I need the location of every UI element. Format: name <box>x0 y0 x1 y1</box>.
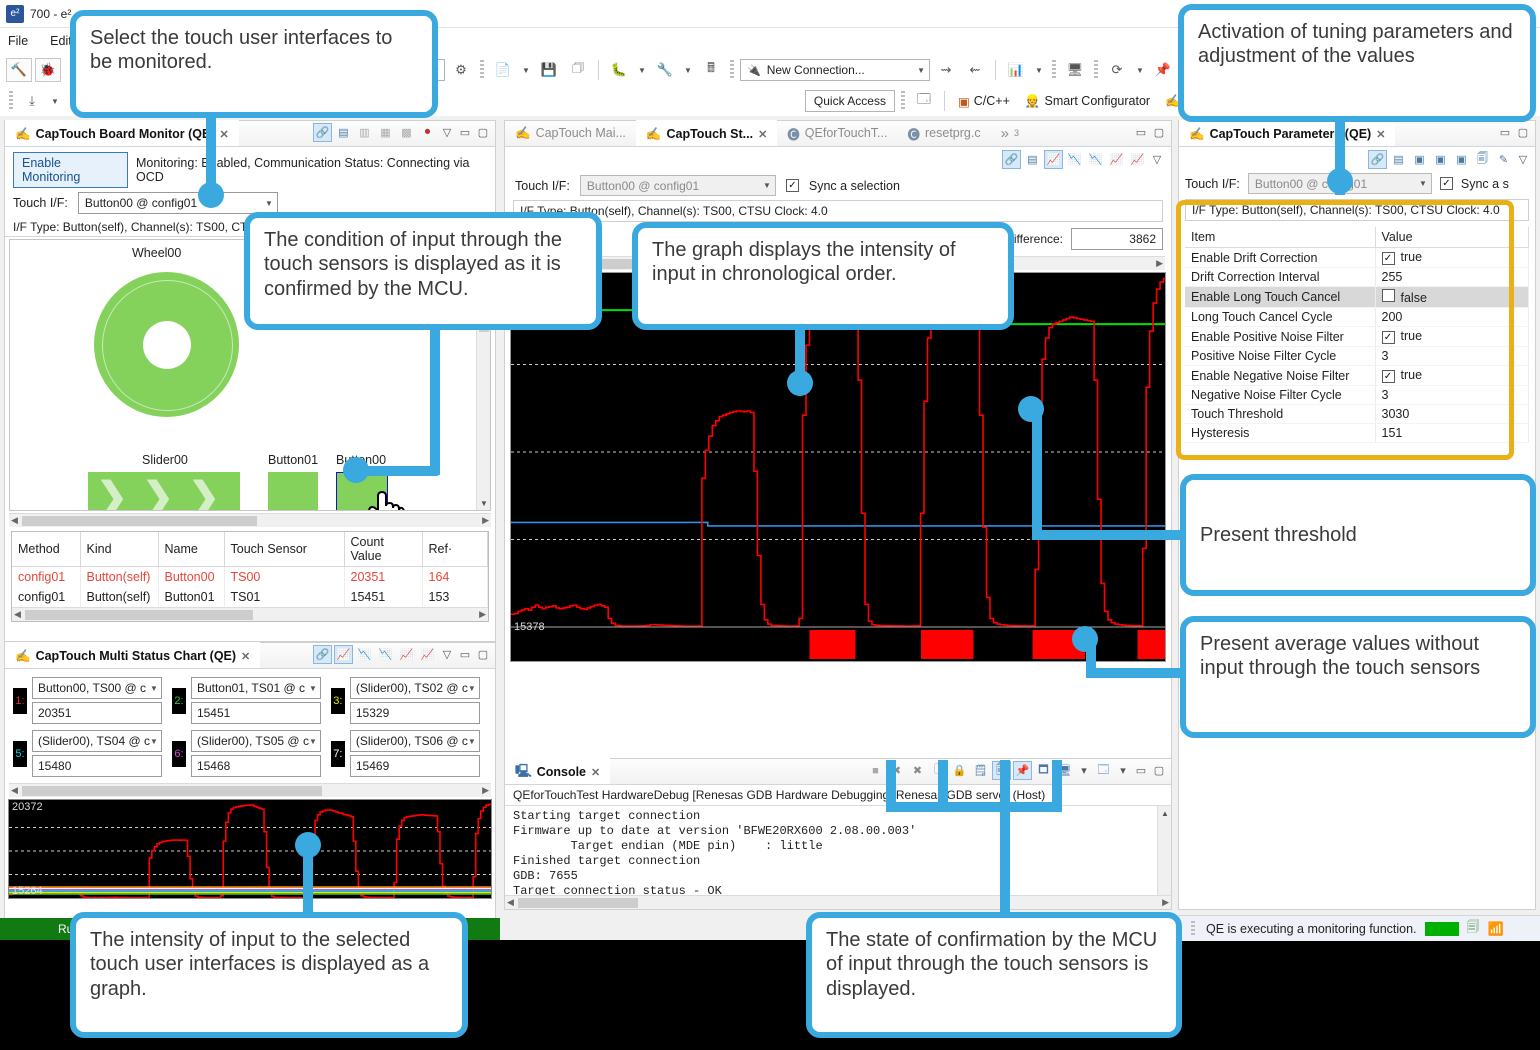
cell-method: config01 <box>12 567 80 588</box>
build-icon[interactable]: 🔧 <box>652 58 678 82</box>
callout-dot-c2 <box>343 457 369 483</box>
close-icon[interactable]: ✕ <box>220 128 229 141</box>
channel-select-3[interactable]: (Slider00), TS02 @ c ▼ <box>350 677 480 699</box>
scroll-right-icon[interactable]: ▶ <box>1162 897 1169 908</box>
col-item: Item <box>1185 227 1375 248</box>
qe-status-message: QE is executing a monitoring function. <box>1206 922 1417 936</box>
app-icon: e² <box>6 5 24 23</box>
callout-dot-c3 <box>787 370 813 396</box>
chart-view-icon[interactable]: 📈 <box>334 645 353 664</box>
params-tabbar: ✍ CapTouch Parameters (QE) ✕ ▭ ▢ <box>1179 121 1535 147</box>
minimize-icon[interactable]: ▭ <box>457 646 473 664</box>
params-iftype-text: I/F Type: Button(self), Channel(s): TS00… <box>1185 199 1529 221</box>
param-item: Enable Positive Noise Filter <box>1185 327 1375 347</box>
chevron-down-icon: ▼ <box>150 737 158 746</box>
board-monitor-tabbar: ✍ CapTouch Board Monitor (QE) ✕ 🔗 ▤ ▥ ▦ … <box>5 121 495 147</box>
chart-export-icon[interactable]: 📈 <box>1128 150 1147 169</box>
channel-select-6-value: (Slider00), TS05 @ c <box>197 734 309 748</box>
param-checkbox[interactable] <box>1382 289 1395 302</box>
chevron-down-icon: ▼ <box>265 199 273 208</box>
scroll-right-icon[interactable]: ▶ <box>482 515 489 526</box>
table-horizontal-scrollbar[interactable]: ◀ ▶ <box>12 607 488 621</box>
list-item[interactable]: 6: (Slider00), TS05 @ c ▼ 15468 <box>172 730 321 777</box>
connection-value: New Connection... <box>767 63 911 77</box>
chevron-down-icon: ▼ <box>1419 179 1427 188</box>
link-selection-icon[interactable]: 🔗 <box>313 123 332 142</box>
board-monitor-toolbar: 🔗 ▤ ▥ ▦ ▩ ⏺ ▽ ▭ ▢ <box>313 123 491 142</box>
col-ref: Ref· <box>422 532 488 567</box>
cell-kind: Button(self) <box>80 587 158 607</box>
channel-index-7: 7: <box>331 741 345 767</box>
close-icon[interactable]: ✕ <box>1376 128 1385 141</box>
captouch-status-chart[interactable]: 20372 15378 <box>510 272 1166 662</box>
tab-qefortouchtest-label: QEforTouchT... <box>805 126 888 140</box>
tab-captouch-parameters[interactable]: ✍ CapTouch Parameters (QE) ✕ <box>1179 120 1395 146</box>
table-row[interactable]: config01 Button(self) Button00 TS00 2035… <box>12 567 488 588</box>
param-value[interactable]: false <box>1375 287 1529 308</box>
step-filter-icon[interactable]: ⇝ <box>933 58 959 82</box>
callout-intensity-graph: The intensity of input to the selected t… <box>70 912 468 1038</box>
params-toolbar: 🔗 ▤ ▣ ▣ ▣ 🗐 ✎ ▽ <box>1179 147 1535 171</box>
view-menu-icon[interactable]: ▽ <box>439 646 455 664</box>
perspective-sc-label: Smart Configurator <box>1044 94 1150 108</box>
callout-graph-intensity: The graph displays the intensity of inpu… <box>632 222 1014 330</box>
cell-method: config01 <box>12 587 80 607</box>
lock-scroll-icon[interactable]: 🔒 <box>950 761 969 780</box>
slider00-widget[interactable]: ❯ ❯ ❯ <box>88 472 240 511</box>
channel-select-7[interactable]: (Slider00), TS06 @ c ▼ <box>350 730 480 752</box>
hand-cursor-icon <box>362 490 406 511</box>
table-row[interactable]: Drift Correction Interval255 <box>1185 268 1529 287</box>
touch-sensor-table[interactable]: Method Kind Name Touch Sensor Count Valu… <box>11 531 489 622</box>
channel-value-3: 15329 <box>350 702 480 724</box>
callout-dot-c5 <box>1018 396 1044 422</box>
cpp-icon: ▣ <box>958 94 970 109</box>
connection-combo[interactable]: 🔌 New Connection... ▼ <box>740 59 930 81</box>
quick-access-button[interactable]: Quick Access <box>805 90 895 112</box>
cell-sensor: TS01 <box>224 587 344 607</box>
params-interface-row: Touch I/F: Button00 @ config01 ▼ ✓ Sync … <box>1179 171 1535 199</box>
channel-select-3-value: (Slider00), TS02 @ c <box>356 681 468 695</box>
list-item[interactable]: 5: (Slider00), TS04 @ c ▼ 15480 <box>13 730 162 777</box>
scroll-right-icon[interactable]: ▶ <box>1156 258 1163 269</box>
write-parameters-icon[interactable]: ▣ <box>1410 150 1429 169</box>
channel-select-7-value: (Slider00), TS06 @ c <box>356 734 468 748</box>
param-value[interactable]: 255 <box>1375 268 1529 287</box>
channel-value-6: 15468 <box>191 755 321 777</box>
param-checkbox[interactable]: ✓ <box>1382 252 1395 265</box>
param-item: Touch Threshold <box>1185 405 1375 424</box>
callout-input-condition: The condition of input through the touch… <box>244 212 602 330</box>
list-item[interactable]: 3: (Slider00), TS02 @ c ▼ 15329 <box>331 677 480 724</box>
view-menu-icon[interactable]: ▽ <box>1149 151 1165 169</box>
status-chart-svg <box>511 273 1166 661</box>
qe-hand-icon: ✍ <box>646 127 662 142</box>
start-logging-icon[interactable]: ▥ <box>355 123 374 142</box>
chevron-down-icon: ▼ <box>468 684 476 693</box>
chevron-down-icon: ▼ <box>309 737 317 746</box>
chart-export-icon[interactable]: 📈 <box>418 645 437 664</box>
pin-console-icon[interactable]: 📌 <box>1013 761 1032 780</box>
callout-average-values: Present average values without input thr… <box>1180 616 1536 738</box>
param-item: Enable Negative Noise Filter <box>1185 366 1375 386</box>
debug-icon[interactable]: 🐛 <box>606 58 632 82</box>
perspective-smart-configurator[interactable]: 👷 Smart Configurator <box>1019 94 1156 109</box>
tab-board-monitor[interactable]: ✍ CapTouch Board Monitor (QE) ✕ <box>5 120 239 146</box>
connector-c5-v <box>1032 410 1042 540</box>
tab-console-label: Console <box>537 765 586 779</box>
channel-select-5-value: (Slider00), TS04 @ c <box>38 734 150 748</box>
close-icon[interactable]: ✕ <box>591 766 600 779</box>
minimize-icon[interactable]: ▭ <box>1133 123 1149 141</box>
tab-overflow[interactable]: » 3 <box>991 120 1029 146</box>
qe-hand-icon: ✍ <box>15 127 31 142</box>
touch-if-label: Touch I/F: <box>515 179 570 193</box>
callout-dot-c1 <box>198 182 224 208</box>
channel-index-2: 2: <box>172 688 186 714</box>
build-dropdown-icon[interactable]: ▼ <box>681 58 695 82</box>
param-checkbox[interactable]: ✓ <box>1382 370 1395 383</box>
cell-name: Button00 <box>158 567 224 588</box>
window-title: 700 - e² <box>30 7 71 21</box>
col-name: Name <box>158 532 224 567</box>
chart-view-icon[interactable]: 📈 <box>1044 150 1063 169</box>
new-file-dropdown-icon[interactable]: ▼ <box>519 58 533 82</box>
status-chart-iftype-text: I/F Type: Button(self), Channel(s): TS00… <box>513 200 1163 222</box>
editor-window-controls: ▭ ▢ <box>1133 123 1167 141</box>
minimize-icon[interactable]: ▭ <box>1133 762 1149 780</box>
open-console-icon[interactable]: 🗔 <box>1094 761 1113 780</box>
monitoring-status-text: Monitoring: Enabled, Communication Statu… <box>136 156 487 184</box>
chart-icon[interactable]: ▩ <box>397 123 416 142</box>
cell-count: 20351 <box>344 567 422 588</box>
callout-dot-c4 <box>1327 168 1353 194</box>
console-view: 🖳 Console ✕ ■ ✖ ✖ 🗋 🔒 🗒 🗐 📌 🗖 🖥 ▾ 🗔 ▾ ▭ … <box>504 758 1172 910</box>
minimize-icon[interactable]: ▭ <box>1497 123 1513 141</box>
channel-value-5: 15480 <box>32 755 162 777</box>
menu-item-edit[interactable]: Edit <box>50 34 72 48</box>
link-selection-icon[interactable]: 🔗 <box>1002 150 1021 169</box>
maximize-icon[interactable]: ▢ <box>1151 762 1167 780</box>
scroll-left-icon[interactable]: ◀ <box>507 897 514 908</box>
callout-present-threshold: Present threshold <box>1180 474 1536 596</box>
cell-kind: Button(self) <box>80 567 158 588</box>
view-menu-icon[interactable]: ▽ <box>1515 151 1531 169</box>
stack-icon[interactable]: 📊 <box>1003 58 1029 82</box>
tab-multi-status-chart[interactable]: ✍ CapTouch Multi Status Chart (QE) ✕ <box>5 642 260 668</box>
console-toolbar: ■ ✖ ✖ 🗋 🔒 🗒 🗐 📌 🗖 🖥 ▾ 🗔 ▾ ▭ ▢ <box>866 761 1167 780</box>
tab-overflow-count: 3 <box>1014 128 1019 138</box>
chevron-down-icon[interactable]: ▾ <box>1076 762 1092 780</box>
enable-monitoring-button[interactable]: Enable Monitoring <box>13 152 128 188</box>
stop-logging-icon[interactable]: ▦ <box>376 123 395 142</box>
cursor-dropdown-icon[interactable]: ▼ <box>1133 58 1147 82</box>
button01-widget[interactable] <box>268 472 318 511</box>
param-value[interactable]: ✓true <box>1375 248 1529 268</box>
channel-value-7: 15469 <box>350 755 480 777</box>
minimize-icon[interactable]: ▭ <box>457 124 473 142</box>
copy-status-icon[interactable]: 🗐 <box>1467 918 1480 940</box>
step-filter2-icon[interactable]: ⇜ <box>962 58 988 82</box>
close-icon[interactable]: ✕ <box>241 650 250 663</box>
cell-ref: 164 <box>422 567 488 588</box>
tab-captouch-status[interactable]: ✍ CapTouch St... ✕ <box>636 120 777 146</box>
param-value[interactable]: 200 <box>1375 308 1529 327</box>
mini-chart-svg <box>9 800 491 898</box>
params-header-row: Item Value <box>1185 227 1529 248</box>
channel-value-2: 15451 <box>191 702 321 724</box>
callout-state-confirmation: The state of confirmation by the MCU of … <box>806 912 1182 1038</box>
cell-count: 15451 <box>344 587 422 607</box>
callout-tuning-parameters: Activation of tuning parameters and adju… <box>1178 4 1536 122</box>
channel-index-6: 6: <box>172 741 186 767</box>
board-view-icon[interactable]: ▤ <box>334 123 353 142</box>
table-header-row: Method Kind Name Touch Sensor Count Valu… <box>12 532 488 567</box>
channel-select-1[interactable]: Button00, TS00 @ c ▼ <box>32 677 162 699</box>
scroll-left-icon[interactable]: ◀ <box>11 515 18 526</box>
view-menu-icon[interactable]: ▽ <box>439 124 455 142</box>
smart-configurator-icon: 👷 <box>1025 94 1041 109</box>
import-icon[interactable]: ⤓ <box>19 89 45 113</box>
channel-select-6[interactable]: (Slider00), TS05 @ c ▼ <box>191 730 321 752</box>
col-touch-sensor: Touch Sensor <box>224 532 344 567</box>
tab-resetprg[interactable]: 🅒 resetprg.c <box>897 120 990 146</box>
channel-index-5: 5: <box>13 741 27 767</box>
chevron-down-icon: ▼ <box>468 737 476 746</box>
tab-captouch-main-label: CapTouch Mai... <box>536 126 626 140</box>
maximize-icon[interactable]: ▢ <box>475 124 491 142</box>
touch-if-label: Touch I/F: <box>13 196 68 210</box>
refresh-parameters-icon[interactable]: ▣ <box>1452 150 1471 169</box>
menu-item-file[interactable]: File <box>8 34 28 48</box>
board-view-icon[interactable]: ▤ <box>1023 150 1042 169</box>
touch-if-select[interactable]: Button00 @ config01 ▼ <box>78 192 278 214</box>
board-view-icon[interactable]: ▤ <box>1389 150 1408 169</box>
tab-captouch-status-label: CapTouch St... <box>666 127 753 141</box>
save-all-icon[interactable]: 🗇 <box>565 58 591 82</box>
tab-captouch-parameters-label: CapTouch Parameters (QE) <box>1210 127 1372 141</box>
table-row[interactable]: Enable Positive Noise Filter✓true <box>1185 327 1529 347</box>
tab-qefortouchtest[interactable]: 🅒 QEforTouchT... <box>777 120 897 146</box>
col-method: Method <box>12 532 80 567</box>
param-value[interactable]: ✓true <box>1375 327 1529 347</box>
touch-if-select-disabled[interactable]: Button00 @ config01 ▼ <box>580 175 776 196</box>
link-selection-icon[interactable]: 🔗 <box>313 645 332 664</box>
terminate-icon[interactable]: ■ <box>866 761 885 780</box>
wheel00-widget[interactable] <box>94 272 239 417</box>
list-item[interactable]: 7: (Slider00), TS06 @ c ▼ 15469 <box>331 730 480 777</box>
maximize-icon[interactable]: ▢ <box>1151 123 1167 141</box>
debug-dropdown-icon[interactable]: ▼ <box>635 58 649 82</box>
binary-icon[interactable]: 🖩 <box>698 58 724 82</box>
param-value[interactable]: ✓true <box>1375 366 1529 386</box>
scroll-left-icon[interactable]: ◀ <box>11 785 18 796</box>
record-icon[interactable]: ⏺ <box>418 123 437 142</box>
status-chart-toolbar: 🔗 ▤ 📈 📉 📉 📈 📈 ▽ <box>505 147 1171 169</box>
cell-ref: 153 <box>422 587 488 607</box>
scroll-right-icon[interactable]: ▶ <box>482 785 489 796</box>
chevron-down-icon: ▼ <box>309 684 317 693</box>
new-file-icon[interactable]: 📄 <box>490 58 516 82</box>
mini-chart-bottom-label: 15264 <box>12 885 43 897</box>
sync-selection-label: Sync a s <box>1461 177 1509 191</box>
table-row[interactable]: Enable Drift Correction✓true <box>1185 248 1529 268</box>
new-console-icon[interactable]: 🗖 <box>1034 761 1053 780</box>
list-item[interactable]: 2: Button01, TS01 @ c ▼ 15451 <box>172 677 321 724</box>
console-horizontal-scrollbar[interactable]: ◀ ▶ <box>505 895 1171 909</box>
table-row[interactable]: Enable Long Touch Cancelfalse <box>1185 287 1529 308</box>
ide-window: e² 700 - e² File Edit 🔨 🐞 eDebug ▼ ⚙ 📄 ▼… <box>0 0 1540 940</box>
param-checkbox[interactable]: ✓ <box>1382 331 1395 344</box>
touch-if-value: Button00 @ config01 <box>85 196 265 210</box>
qe-hand-icon: ✍ <box>15 649 31 664</box>
qe-status-bar: QE is executing a monitoring function. 🗐… <box>1178 915 1540 941</box>
param-item: Enable Drift Correction <box>1185 248 1375 268</box>
maximize-icon[interactable]: ▢ <box>1515 123 1531 141</box>
list-item[interactable]: 1: Button00, TS00 @ c ▼ 20351 <box>13 677 162 724</box>
chart-clear-icon[interactable]: 📉 <box>376 645 395 664</box>
table-row[interactable]: Positive Noise Filter Cycle3 <box>1185 347 1529 366</box>
cell-sensor: TS00 <box>224 567 344 588</box>
copy-parameters-icon[interactable]: 🗐 <box>1473 150 1492 169</box>
chart-bottom-label: 15378 <box>514 621 545 633</box>
multi-status-mini-chart[interactable]: 20372 15264 <box>8 799 492 899</box>
debug-bug-icon[interactable]: 🐞 <box>35 58 61 82</box>
tab-captouch-main[interactable]: ✍ CapTouch Mai... <box>505 120 636 146</box>
table-row[interactable]: Negative Noise Filter Cycle3 <box>1185 386 1529 405</box>
tab-resetprg-label: resetprg.c <box>925 126 981 140</box>
sync-selection-checkbox[interactable]: ✓ <box>1440 177 1453 190</box>
param-value[interactable]: 3030 <box>1375 405 1529 424</box>
param-item: Negative Noise Filter Cycle <box>1185 386 1375 405</box>
edit-parameters-icon[interactable]: ✎ <box>1494 150 1513 169</box>
c-file-icon: 🅒 <box>907 124 920 143</box>
multichart-cells: 1: Button00, TS00 @ c ▼ 20351 2: Button0… <box>5 669 495 781</box>
gear-icon[interactable]: ⚙ <box>448 58 474 82</box>
param-item: Enable Long Touch Cancel <box>1185 287 1375 308</box>
captouch-status-chart-editor: ✍ CapTouch Mai... ✍ CapTouch St... ✕ 🅒 Q… <box>504 120 1172 760</box>
channel-select-2[interactable]: Button01, TS01 @ c ▼ <box>191 677 321 699</box>
col-count-value: Count Value <box>344 532 422 567</box>
connector-c8-c <box>1000 760 1010 915</box>
perspective-cpp-label: C/C++ <box>974 94 1010 108</box>
wheel00-label: Wheel00 <box>132 246 181 260</box>
table-row[interactable]: Hysteresis151 <box>1185 424 1529 443</box>
status-chart-interface-row: Touch I/F: Button00 @ config01 ▼ ✓ Sync … <box>505 169 1171 200</box>
param-item: Drift Correction Interval <box>1185 268 1375 287</box>
console-icon: 🖳 <box>515 762 532 783</box>
button01-label: Button01 <box>268 453 318 467</box>
chart-pause-icon[interactable]: 📉 <box>355 645 374 664</box>
perspective-cpp[interactable]: ▣ C/C++ <box>952 94 1016 109</box>
qe-hand-icon: ✍ <box>1189 127 1205 142</box>
console-vertical-scrollbar[interactable]: ▲ ▼ <box>1157 806 1171 906</box>
col-value: Value <box>1375 227 1529 248</box>
table-row[interactable]: Touch Threshold3030 <box>1185 405 1529 424</box>
channel-value-1: 20351 <box>32 702 162 724</box>
channel-select-5[interactable]: (Slider00), TS04 @ c ▼ <box>32 730 162 752</box>
import-dropdown-icon[interactable]: ▼ <box>48 89 62 113</box>
chart-pause-icon[interactable]: 📉 <box>1065 150 1084 169</box>
read-parameters-icon[interactable]: ▣ <box>1431 150 1450 169</box>
parameters-table[interactable]: Item Value Enable Drift Correction✓trueD… <box>1185 227 1529 443</box>
chart-save-icon[interactable]: 📈 <box>397 645 416 664</box>
callout-dot-c6 <box>1072 626 1098 652</box>
chevron-down-icon[interactable]: ▾ <box>1115 762 1131 780</box>
channel-select-2-value: Button01, TS01 @ c <box>197 681 309 695</box>
scroll-right-icon[interactable]: ▶ <box>479 609 486 620</box>
channel-select-1-value: Button00, TS00 @ c <box>38 681 150 695</box>
table-row[interactable]: config01 Button(self) Button01 TS01 1545… <box>12 587 488 607</box>
chart-save-icon[interactable]: 📈 <box>1107 150 1126 169</box>
multichart-tabbar: ✍ CapTouch Multi Status Chart (QE) ✕ 🔗 📈… <box>5 643 495 669</box>
board-monitor-statusrow: Enable Monitoring Monitoring: Enabled, C… <box>5 147 495 190</box>
col-kind: Kind <box>80 532 158 567</box>
tab-console[interactable]: 🖳 Console ✕ <box>505 758 610 784</box>
callout-select-touch-ui: Select the touch user interfaces to be m… <box>70 10 438 118</box>
chart-clear-icon[interactable]: 📉 <box>1086 150 1105 169</box>
slider00-label: Slider00 <box>142 453 188 467</box>
console-output[interactable]: Starting target connection Firmware up t… <box>505 806 1171 902</box>
c-file-icon: 🅒 <box>787 124 800 143</box>
scroll-left-icon[interactable]: ◀ <box>14 609 21 620</box>
sync-selection-label: Sync a selection <box>809 179 900 193</box>
param-value[interactable]: 3 <box>1375 347 1529 366</box>
canvas-horizontal-scrollbar[interactable]: ◀ ▶ <box>9 513 491 527</box>
param-value[interactable]: 151 <box>1375 424 1529 443</box>
stack-dropdown-icon[interactable]: ▼ <box>1032 58 1046 82</box>
difference-value: 3862 <box>1071 228 1163 250</box>
tab-multi-status-chart-label: CapTouch Multi Status Chart (QE) <box>36 649 236 663</box>
captouch-board-monitor-view: ✍ CapTouch Board Monitor (QE) ✕ 🔗 ▤ ▥ ▦ … <box>4 120 496 642</box>
connector-c5-h <box>1032 530 1180 540</box>
link-selection-icon[interactable]: 🔗 <box>1368 150 1387 169</box>
param-item: Positive Noise Filter Cycle <box>1185 347 1375 366</box>
maximize-icon[interactable]: ▢ <box>475 646 491 664</box>
multichart-horizontal-scrollbar[interactable]: ◀ ▶ <box>9 783 491 797</box>
params-window-controls: ▭ ▢ <box>1497 123 1531 141</box>
touch-if-label: Touch I/F: <box>1185 177 1240 191</box>
captouch-multi-status-chart-view: ✍ CapTouch Multi Status Chart (QE) ✕ 🔗 📈… <box>4 642 496 934</box>
remove-all-icon[interactable]: ✖ <box>908 761 927 780</box>
word-wrap-icon[interactable]: 🗒 <box>971 761 990 780</box>
cursor-icon[interactable]: ⟳ <box>1104 58 1130 82</box>
tab-overflow-label: » <box>1001 125 1009 142</box>
feed-icon[interactable]: 📶 <box>1488 921 1504 937</box>
connector-c2-v <box>430 325 440 475</box>
status-progress-bar <box>1425 922 1459 936</box>
pin-icon[interactable]: 📌 <box>1150 58 1176 82</box>
param-item: Long Touch Cancel Cycle <box>1185 308 1375 327</box>
build-hammer-icon[interactable]: 🔨 <box>6 58 32 82</box>
channel-index-1: 1: <box>13 688 27 714</box>
monitor-icon[interactable]: 🖥 <box>1062 58 1088 82</box>
table-row[interactable]: Long Touch Cancel Cycle200 <box>1185 308 1529 327</box>
open-perspective-icon[interactable]: 🗔 <box>911 89 937 113</box>
param-value[interactable]: 3 <box>1375 386 1529 405</box>
multichart-toolbar: 🔗 📈 📉 📉 📈 📈 ▽ ▭ ▢ <box>313 645 491 664</box>
editor-tabbar: ✍ CapTouch Mai... ✍ CapTouch St... ✕ 🅒 Q… <box>505 121 1171 147</box>
save-icon[interactable]: 💾 <box>536 58 562 82</box>
sync-selection-checkbox[interactable]: ✓ <box>786 179 799 192</box>
close-icon[interactable]: ✕ <box>758 128 767 141</box>
connector-c8-h <box>886 802 1062 812</box>
table-row[interactable]: Enable Negative Noise Filter✓true <box>1185 366 1529 386</box>
callout-dot-c7 <box>295 832 321 858</box>
qe-hand-icon: ✍ <box>515 126 531 141</box>
mini-chart-top-label: 20372 <box>12 801 43 813</box>
channel-index-3: 3: <box>331 688 345 714</box>
